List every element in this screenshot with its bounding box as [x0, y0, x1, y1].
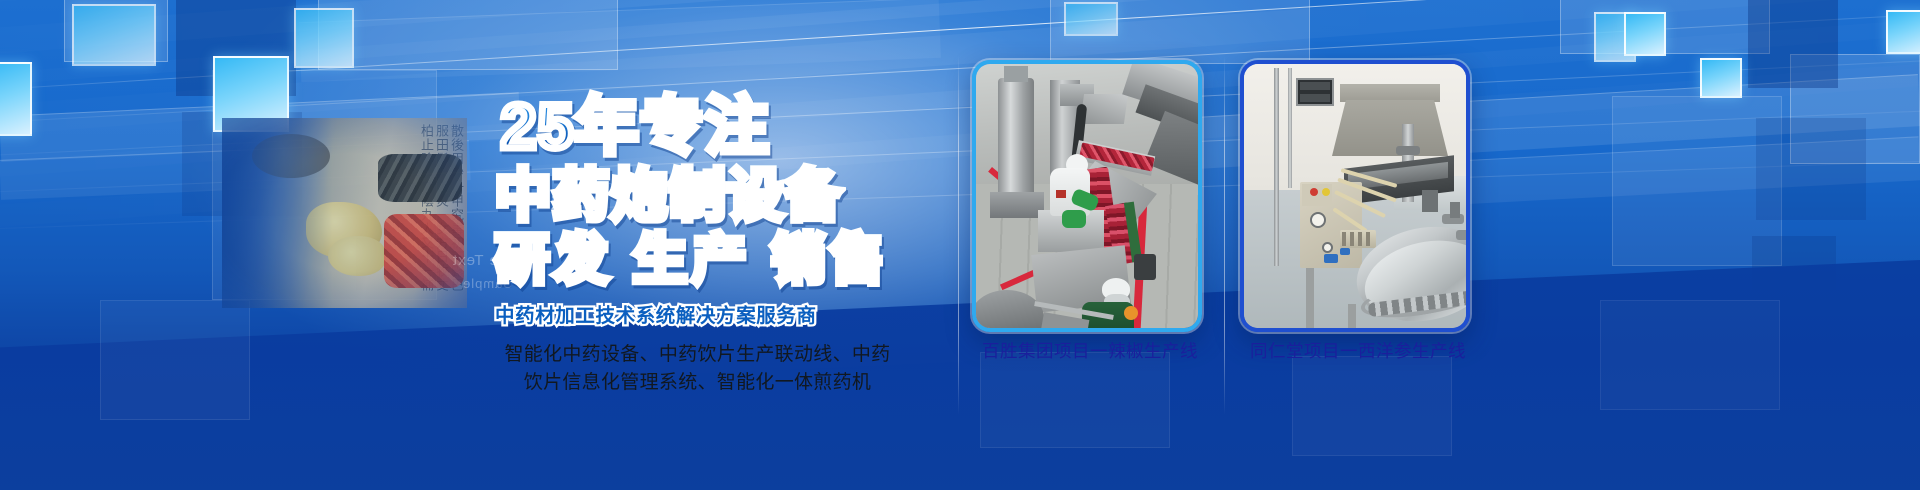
background-accent-square [294, 8, 354, 68]
headline-subtitle: 中药材加工技术系统解决方案服务商 [495, 299, 975, 328]
photo-card-chili-line[interactable] [972, 60, 1202, 332]
background-accent-square [72, 4, 156, 66]
headline-line-2-text: 中药炮制设备 [495, 164, 843, 227]
headline-line-1: 25年专注 [501, 96, 975, 159]
headline-line-2: 中药炮制设备 [495, 168, 975, 224]
photo-chili-production-line [976, 64, 1198, 328]
background-rectangle [1292, 356, 1452, 456]
background-accent-square [0, 62, 32, 136]
headline-line-1-text: 25年专注 [501, 92, 770, 162]
herb-vignette [222, 118, 467, 308]
background-accent-square [1700, 58, 1742, 98]
background-rectangle [1600, 300, 1780, 410]
background-accent-square [1624, 12, 1666, 56]
photo-caption-ginseng-line: 同仁堂项目一西洋参生产线 [1240, 338, 1476, 363]
photo-ginseng-production-line [1244, 64, 1466, 328]
headline-block: 25年专注 中药炮制设备 研发 生产 销售 中药材加工技术系统解决方案服务商 智… [495, 96, 975, 397]
photo-caption-chili-line: 百胜集团项目一辣椒生产线 [972, 338, 1208, 363]
photo-card-ginseng-line[interactable] [1240, 60, 1470, 332]
background-rectangle [980, 352, 1170, 448]
promo-banner: 散後用炒一甲究毒初下露巴服田髮小月炙一女方日牧丈柏止陰丸補陰丸人又十一補 25年… [0, 0, 1920, 490]
background-rectangle [100, 300, 250, 420]
background-rectangle-dark [1748, 0, 1838, 88]
background-accent-square [1886, 10, 1920, 54]
section-divider [1224, 55, 1225, 415]
headline-line-3: 研发 生产 销售 [495, 233, 975, 287]
headline-line-3-text: 研发 生产 销售 [495, 230, 889, 290]
herb-collage-image: 散後用炒一甲究毒初下露巴服田髮小月炙一女方日牧丈柏止陰丸補陰丸人又十一補 [222, 118, 467, 308]
background-rectangle-dark [1756, 118, 1866, 220]
background-accent-square [1064, 2, 1118, 36]
headline-description: 智能化中药设备、中药饮片生产联动线、中药饮片信息化管理系统、智能化一体煎药机 [495, 341, 900, 397]
background-rectangle [318, 0, 618, 70]
